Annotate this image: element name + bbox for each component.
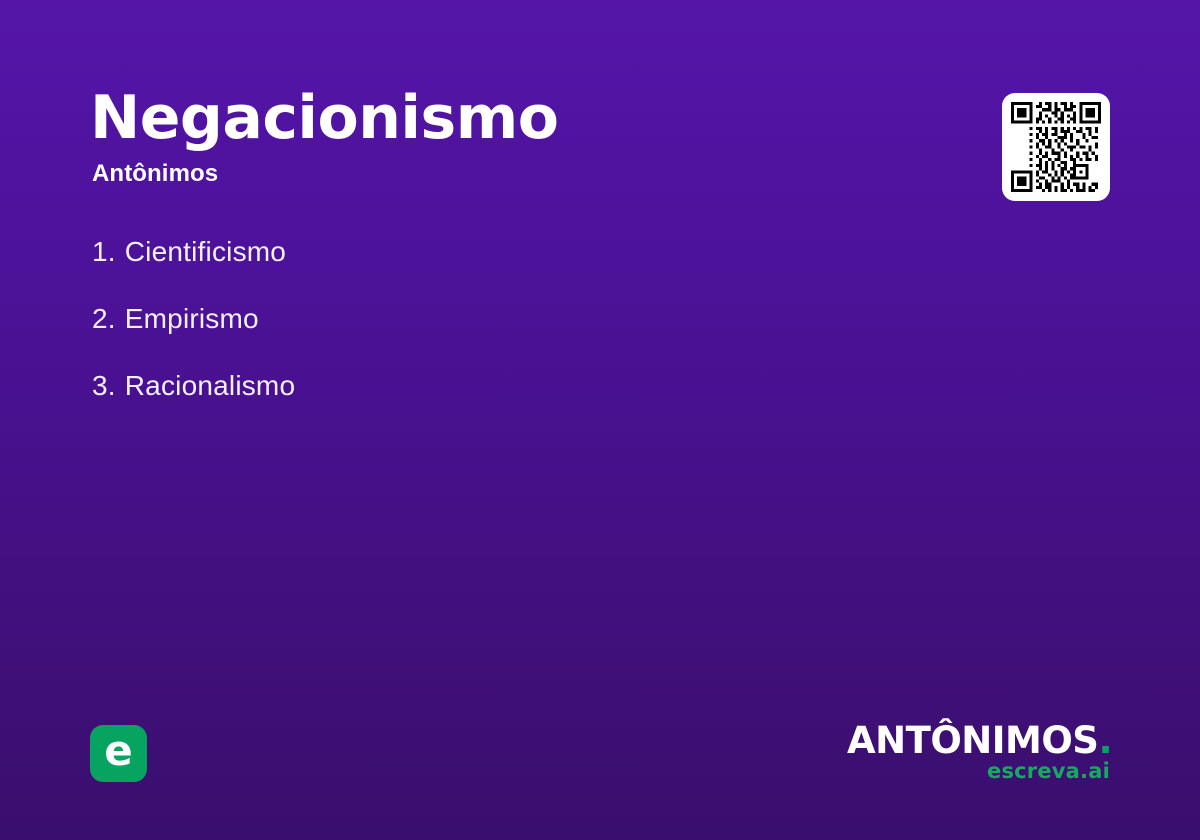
escreva-e-logo-icon[interactable]: e — [90, 725, 147, 782]
wordmark-sub: escreva.ai — [847, 761, 1110, 782]
list-item-index: 2. — [92, 305, 116, 333]
page-subtitle: Antônimos — [92, 161, 910, 187]
qr-code-card[interactable] — [1002, 93, 1110, 201]
list-item: 1. Cientificismo — [92, 238, 892, 305]
list-item-label: Cientificismo — [125, 238, 286, 266]
wordmark: ANTÔNIMOS. escreva.ai — [847, 722, 1112, 782]
list-item-label: Racionalismo — [125, 372, 295, 400]
list-item: 3. Racionalismo — [92, 372, 892, 439]
list-item-index: 1. — [92, 238, 116, 266]
wordmark-main-text: ANTÔNIMOS — [847, 719, 1098, 762]
list-item: 2. Empirismo — [92, 305, 892, 372]
page-title: Negacionismo — [90, 88, 910, 148]
brand-mark-glyph: e — [104, 730, 133, 772]
list-item-label: Empirismo — [125, 305, 259, 333]
wordmark-main: ANTÔNIMOS. — [847, 722, 1112, 759]
wordmark-dot: . — [1098, 719, 1112, 762]
list-item-index: 3. — [92, 372, 116, 400]
header: Negacionismo Antônimos — [90, 88, 910, 187]
antonyms-card: Negacionismo Antônimos 1. Cientificismo … — [0, 0, 1200, 840]
qr-code-icon — [1011, 102, 1101, 192]
antonyms-list: 1. Cientificismo 2. Empirismo 3. Raciona… — [92, 238, 892, 439]
